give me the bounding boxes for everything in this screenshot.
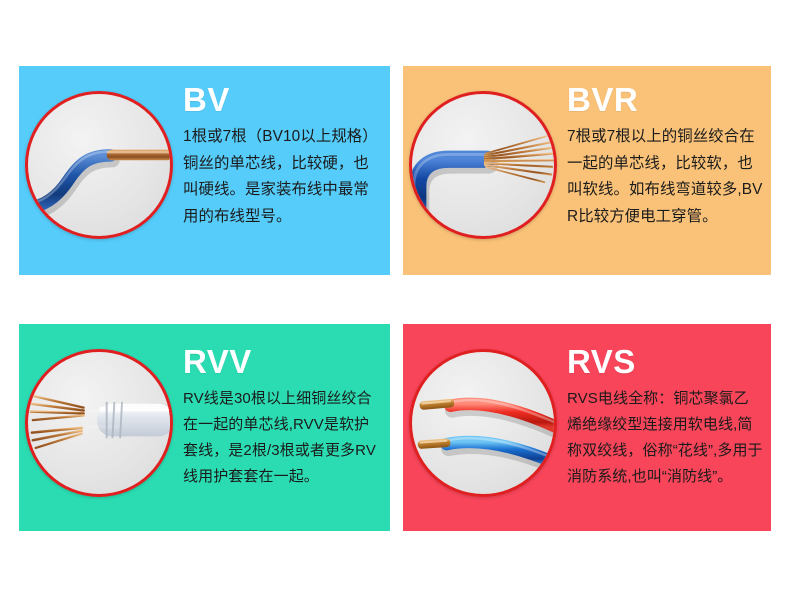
panel-bv[interactable]: BV 1根或7根（BV10以上规格）铜丝的单芯线，比较硬，也叫硬线。是家装布线中… [19, 66, 390, 275]
photo-circle-rvs [409, 349, 557, 497]
panel-rvs[interactable]: RVS RVS电线全称：铜芯聚氯乙烯绝缘绞型连接用软电线,简称双绞线，俗称“花线… [403, 324, 771, 531]
rvs-wire-illustration [412, 352, 554, 494]
bv-wire-illustration [28, 94, 170, 236]
panel-title-rvv: RVV [183, 344, 382, 380]
panel-description-rvs: RVS电线全称：铜芯聚氯乙烯绝缘绞型连接用软电线,简称双绞线，俗称“花线”,多用… [567, 386, 763, 490]
panel-description-bv: 1根或7根（BV10以上规格）铜丝的单芯线，比较硬，也叫硬线。是家装布线中最常用… [183, 124, 382, 230]
bv-wire-photo [25, 91, 173, 239]
bvr-text-block: BVR 7根或7根以上的铜丝绞合在一起的单芯线，比较软，也叫软线。如布线弯道较多… [557, 66, 771, 230]
panel-description-rvv: RV线是30根以上细铜丝绞合在一起的单芯线,RVV是软护套线，是2根/3根或者更… [183, 386, 382, 490]
panel-title-bv: BV [183, 82, 382, 118]
panel-bvr[interactable]: BVR 7根或7根以上的铜丝绞合在一起的单芯线，比较软，也叫软线。如布线弯道较多… [403, 66, 771, 275]
panel-title-bvr: BVR [567, 82, 763, 118]
panel-description-bvr: 7根或7根以上的铜丝绞合在一起的单芯线，比较软，也叫软线。如布线弯道较多,BVR… [567, 124, 763, 230]
bvr-wire-illustration [412, 94, 554, 236]
panel-title-rvs: RVS [567, 344, 763, 380]
rvv-wire-photo [25, 349, 173, 497]
bvr-wire-photo [409, 91, 557, 239]
rvs-text-block: RVS RVS电线全称：铜芯聚氯乙烯绝缘绞型连接用软电线,简称双绞线，俗称“花线… [557, 324, 771, 490]
rvv-text-block: RVV RV线是30根以上细铜丝绞合在一起的单芯线,RVV是软护套线，是2根/3… [173, 324, 390, 490]
photo-circle-rvv [25, 349, 173, 497]
bv-text-block: BV 1根或7根（BV10以上规格）铜丝的单芯线，比较硬，也叫硬线。是家装布线中… [173, 66, 390, 230]
rvs-wire-photo [409, 349, 557, 497]
wire-types-infographic: BV 1根或7根（BV10以上规格）铜丝的单芯线，比较硬，也叫硬线。是家装布线中… [0, 0, 790, 594]
photo-circle-bvr [409, 91, 557, 239]
panel-rvv[interactable]: RVV RV线是30根以上细铜丝绞合在一起的单芯线,RVV是软护套线，是2根/3… [19, 324, 390, 531]
photo-circle-bv [25, 91, 173, 239]
rvv-wire-illustration [28, 352, 170, 494]
